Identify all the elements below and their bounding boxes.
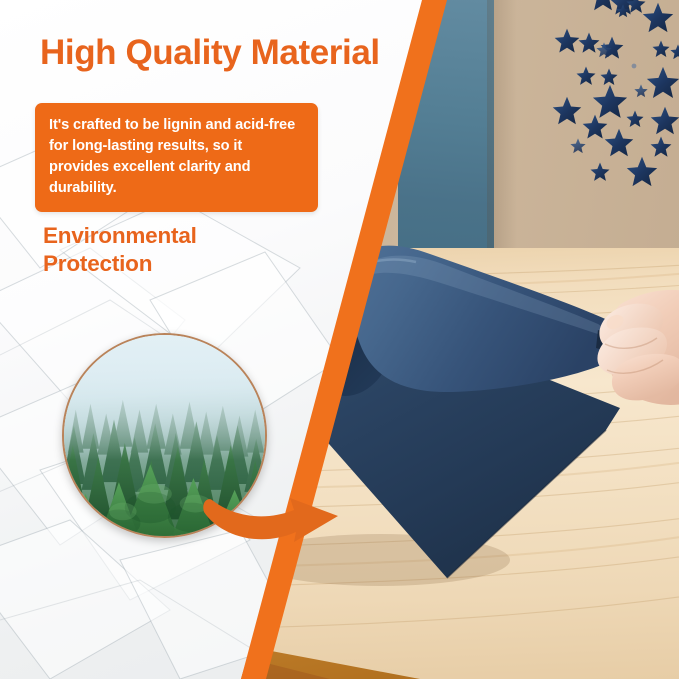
subheading-line-2: Protection xyxy=(43,250,273,278)
feature-callout-box: It's crafted to be lignin and acid-free … xyxy=(35,103,318,212)
page-title: High Quality Material xyxy=(40,33,380,73)
hand-peeling-sheet-icon xyxy=(575,270,679,440)
subheading-line-1: Environmental xyxy=(43,222,273,250)
subheading: Environmental Protection xyxy=(43,222,273,278)
product-feature-graphic: High Quality Material It's crafted to be… xyxy=(0,0,679,679)
feature-callout-text: It's crafted to be lignin and acid-free … xyxy=(49,115,304,199)
curved-arrow-icon xyxy=(198,492,348,554)
